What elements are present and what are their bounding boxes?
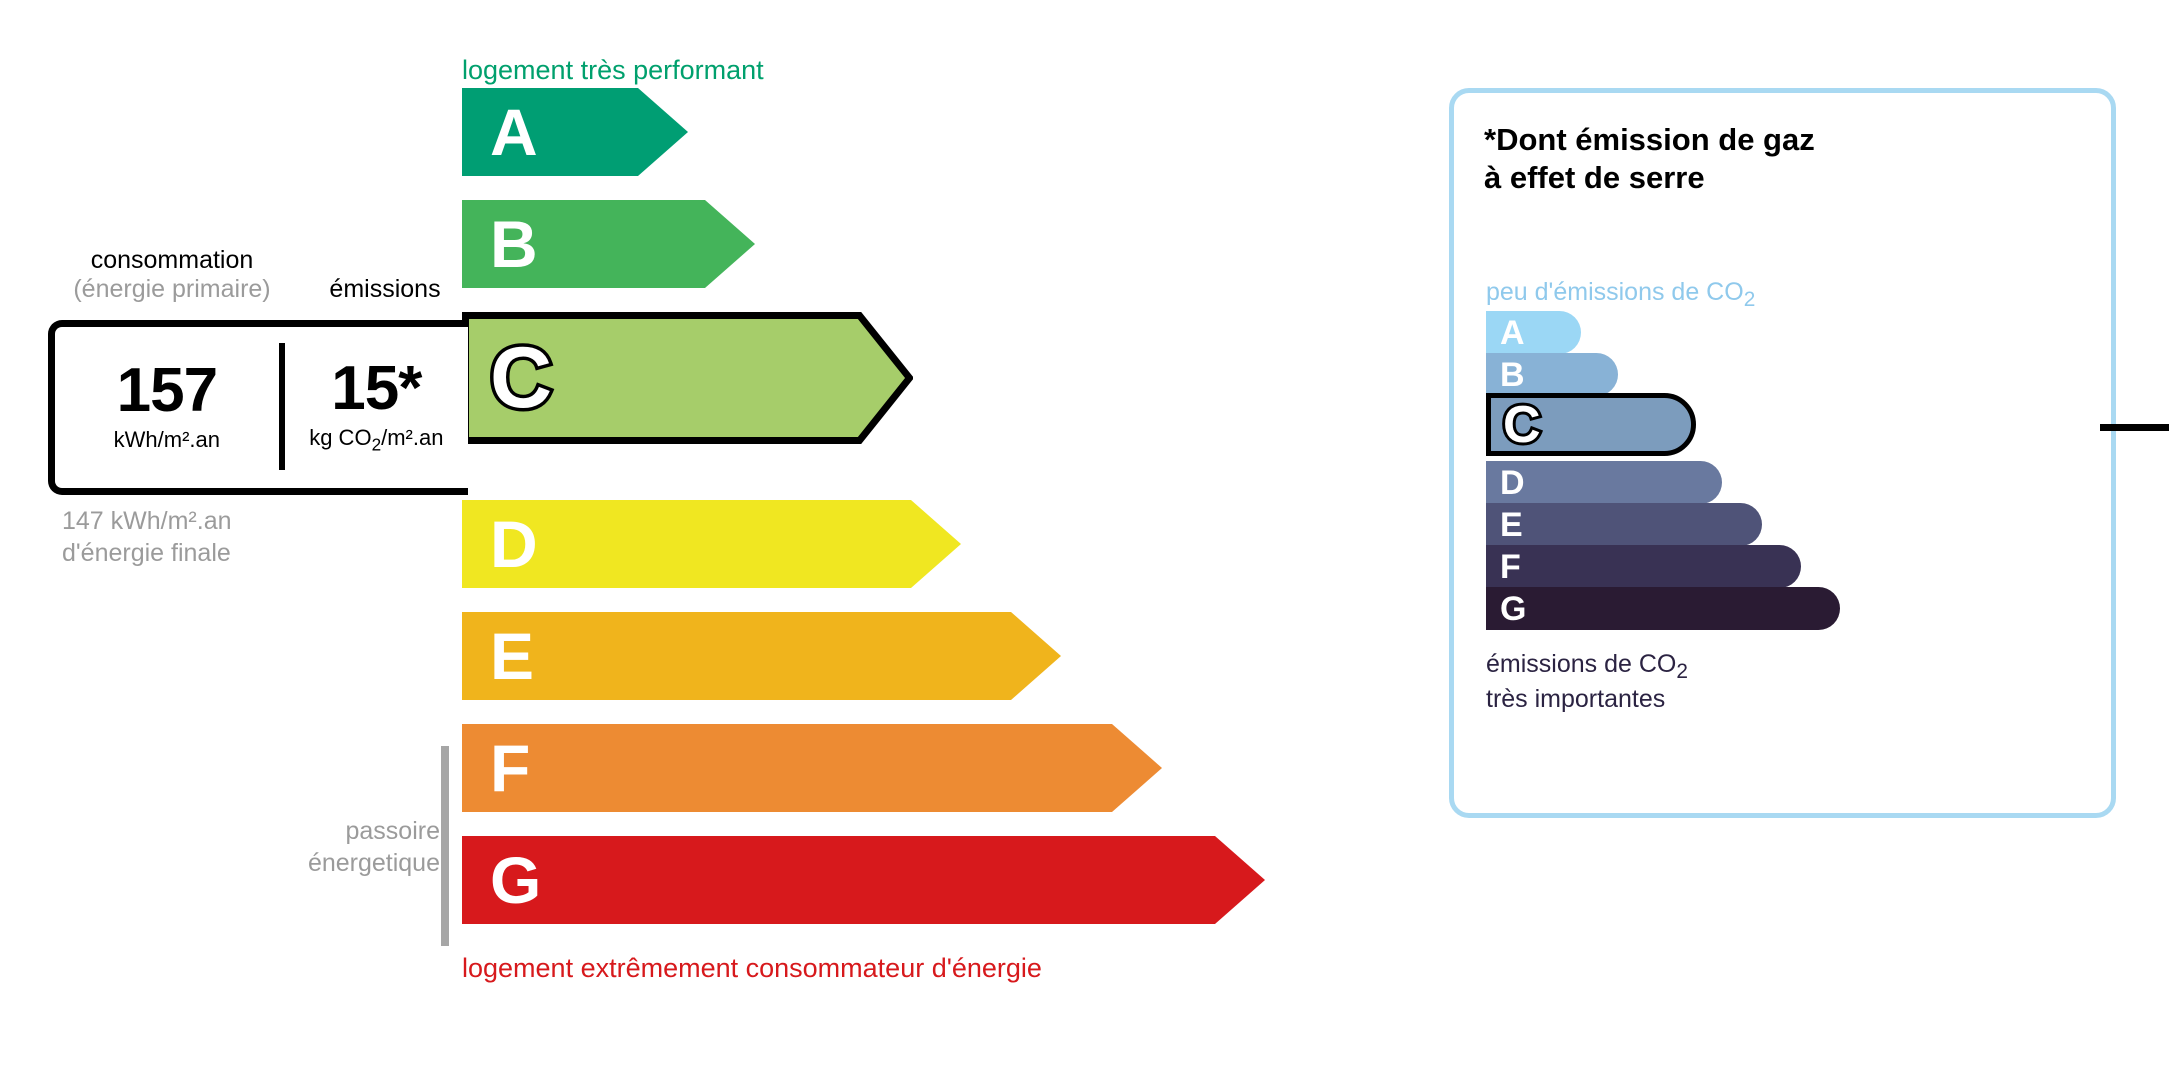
energy-class-bar-b: B [462,200,755,288]
co2-class-bar-f: F [1486,545,1801,588]
energy-class-bar-e: E [462,612,1061,700]
energy-class-bar-g: G [462,836,1265,924]
energy-bar-letter-d: D [490,511,538,577]
energy-bar-arrow-e-icon [462,612,1061,700]
co2-bar-letter-e: E [1500,508,1523,542]
co2-bar-letter-c: C [1503,399,1541,451]
energy-bar-shape-d: D [462,500,961,588]
co2-bar-letter-b: B [1500,358,1525,392]
energy-bar-shape-e: E [462,612,1061,700]
co2-bar-letter-d: D [1500,466,1525,500]
consumption-header: consommation (énergie primaire) [48,246,296,304]
energy-bottom-caption: logement extrêmement consommateur d'éner… [462,953,1042,984]
emission-cell: 15* kg CO2/m².an [285,327,468,488]
final-energy-line1: 147 kWh/m².an [62,505,232,537]
dpe-diagram: logement très performant ABCDEFG logemen… [0,0,2169,1079]
consumption-value: 157 [117,362,217,421]
final-energy-line2: d'énergie finale [62,537,232,569]
energy-bar-arrow-f-icon [462,724,1162,812]
co2-panel-title: *Dont émission de gaz à effet de serre [1484,121,1815,197]
energy-bar-letter-f: F [490,735,530,801]
emission-value: 15* [331,360,421,419]
energy-bar-letter-a: A [490,99,538,165]
passoire-line2: énergetique [250,847,440,879]
energy-performance-panel: logement très performant ABCDEFG logemen… [0,0,1400,1079]
co2-bar-shape-e: E [1486,503,1762,546]
co2-bottom-caption-line1: émissions de CO2 [1486,649,1688,684]
energy-bar-letter-g: G [490,847,541,913]
co2-emissions-panel: *Dont émission de gaz à effet de serre p… [1449,88,2116,818]
passoire-label: passoire énergetique [250,815,440,879]
co2-class-bar-b: B [1486,353,1618,396]
energy-bar-letter-e: E [490,623,534,689]
energy-class-bar-c: C [462,312,913,444]
co2-bar-shape-c: C [1486,393,1696,456]
passoire-bracket [441,746,449,946]
co2-title-line1: *Dont émission de gaz [1484,121,1815,159]
emission-unit: kg CO2/m².an [309,425,443,455]
consumption-unit: kWh/m².an [114,427,220,453]
energy-bar-shape-b: B [462,200,755,288]
co2-callout-leader-line [2100,424,2169,431]
co2-bottom-caption-line2: très importantes [1486,684,1688,715]
final-energy-note: 147 kWh/m².an d'énergie finale [62,505,232,569]
co2-bar-letter-f: F [1500,550,1521,584]
energy-class-bar-f: F [462,724,1162,812]
co2-bar-shape-f: F [1486,545,1801,588]
co2-bar-letter-a: A [1500,316,1525,350]
energy-bar-shape-c: C [462,312,913,444]
energy-bar-letter-c: C [490,335,552,421]
energy-top-caption: logement très performant [462,55,764,86]
energy-bar-shape-a: A [462,88,688,176]
co2-bottom-caption: émissions de CO2 très importantes [1486,649,1688,715]
co2-bar-shape-d: D [1486,461,1722,504]
co2-top-caption: peu d'émissions de CO2 [1486,278,1755,312]
co2-class-bar-c: C [1486,393,1696,456]
co2-bar-letter-g: G [1500,592,1526,626]
co2-bar-shape-g: G [1486,587,1840,630]
energy-class-bar-a: A [462,88,688,176]
value-box: 157 kWh/m².an 15* kg CO2/m².an [48,320,468,495]
co2-class-bar-g: G [1486,587,1840,630]
co2-bar-shape-a: A [1486,311,1581,354]
co2-title-line2: à effet de serre [1484,159,1815,197]
energy-bar-letter-b: B [490,211,538,277]
energy-bar-arrow-g-icon [462,836,1265,924]
consumption-header-line2: (énergie primaire) [48,275,296,304]
energy-class-bar-d: D [462,500,961,588]
energy-bar-shape-f: F [462,724,1162,812]
passoire-line1: passoire [250,815,440,847]
co2-class-bar-a: A [1486,311,1581,354]
consumption-cell: 157 kWh/m².an [55,327,279,488]
co2-class-bar-e: E [1486,503,1762,546]
energy-bar-shape-g: G [462,836,1265,924]
emissions-header: émissions [300,275,470,304]
consumption-header-line1: consommation [91,246,254,274]
co2-bar-shape-b: B [1486,353,1618,396]
co2-class-bar-d: D [1486,461,1722,504]
